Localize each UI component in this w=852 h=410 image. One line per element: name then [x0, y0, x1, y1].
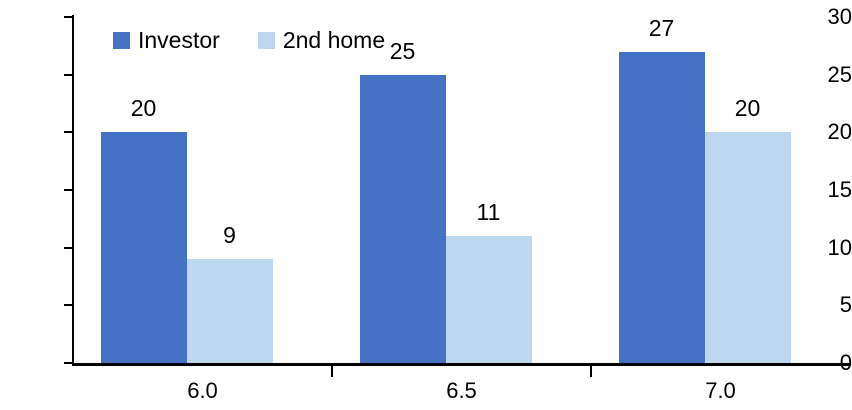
x-axis-tick-label: 7.0	[591, 380, 850, 402]
bar[interactable]	[360, 75, 446, 363]
y-axis-tick	[64, 189, 73, 191]
x-axis-separator-tick	[331, 366, 333, 377]
y-axis-tick-label: 25	[794, 64, 852, 86]
y-axis-tick-label: 20	[794, 121, 852, 143]
legend-label-second-home: 2nd home	[283, 29, 385, 52]
bar-value-label: 20	[101, 97, 187, 120]
y-axis-tick	[64, 247, 73, 249]
legend-item-investor[interactable]: Investor	[113, 29, 220, 52]
y-axis-tick	[64, 74, 73, 76]
x-axis-line	[72, 363, 850, 366]
y-axis-tick-label: 15	[794, 179, 852, 201]
bar-value-label: 20	[705, 97, 791, 120]
bar[interactable]	[619, 52, 705, 363]
bar-value-label: 27	[619, 17, 705, 40]
y-axis-tick-label: 30	[794, 6, 852, 28]
legend-swatch-investor-icon	[113, 32, 130, 49]
x-axis-tick-label: 6.5	[332, 380, 591, 402]
bar-chart: 302520151050 6.06.57.0 20925112720 Inves…	[0, 0, 852, 410]
x-axis-separator-tick	[590, 366, 592, 377]
bar-value-label: 9	[187, 224, 273, 247]
y-axis-tick	[64, 362, 73, 364]
y-axis-tick	[64, 304, 73, 306]
y-axis-tick-label: 10	[794, 237, 852, 259]
y-axis-tick-label: 5	[794, 294, 852, 316]
legend-item-second-home[interactable]: 2nd home	[258, 29, 385, 52]
bar-value-label: 11	[446, 201, 532, 224]
y-axis-tick	[64, 16, 73, 18]
y-axis-tick	[64, 131, 73, 133]
y-axis-tick-label: 0	[794, 352, 852, 374]
legend: Investor 2nd home	[113, 29, 385, 52]
legend-swatch-second-home-icon	[258, 32, 275, 49]
bar[interactable]	[101, 132, 187, 363]
bar[interactable]	[446, 236, 532, 363]
bar[interactable]	[705, 132, 791, 363]
bar[interactable]	[187, 259, 273, 363]
x-axis-tick-label: 6.0	[73, 380, 332, 402]
legend-label-investor: Investor	[138, 29, 220, 52]
